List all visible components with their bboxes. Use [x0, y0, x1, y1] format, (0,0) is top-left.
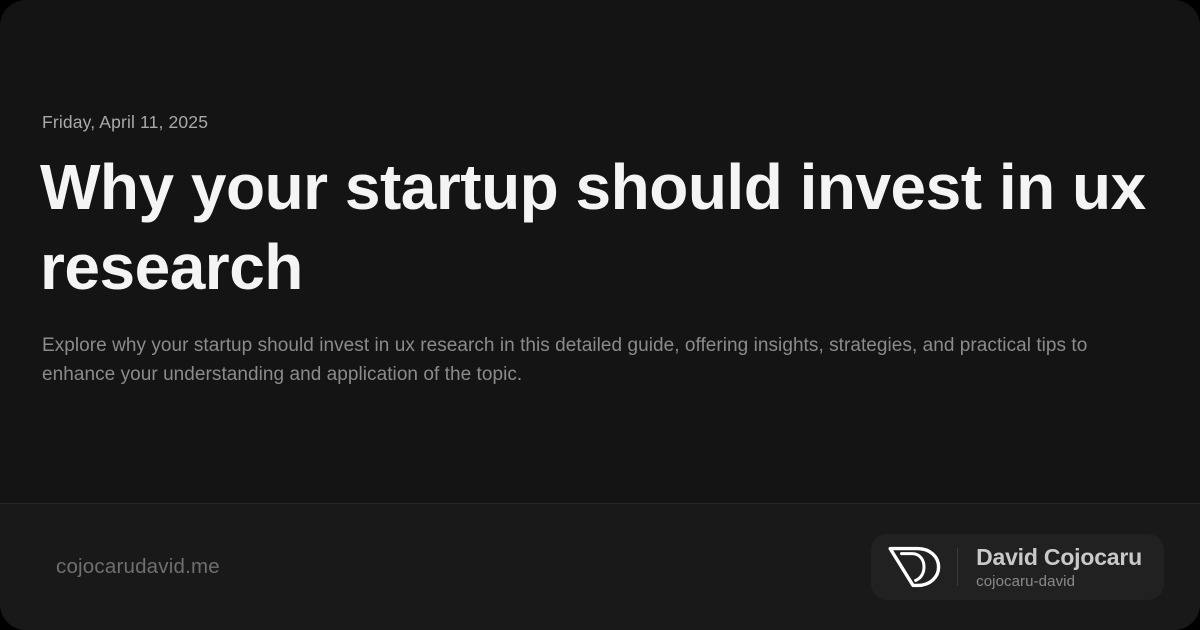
card-footer: cojocarudavid.me David Cojocaru cojocaru…	[0, 503, 1200, 630]
site-url[interactable]: cojocarudavid.me	[56, 557, 220, 578]
article-description: Explore why your startup should invest i…	[42, 331, 1147, 389]
publish-date: Friday, April 11, 2025	[42, 114, 1160, 132]
author-name: David Cojocaru	[976, 544, 1142, 570]
og-preview-card: Friday, April 11, 2025 Why your startup …	[0, 0, 1200, 630]
page-title: Why your startup should invest in ux res…	[40, 147, 1160, 307]
david-cojocaru-monogram-icon	[887, 545, 943, 589]
article-content: Friday, April 11, 2025 Why your startup …	[0, 0, 1200, 503]
author-info: David Cojocaru cojocaru-david	[976, 544, 1142, 590]
author-badge[interactable]: David Cojocaru cojocaru-david	[871, 534, 1164, 600]
author-card-divider	[957, 548, 958, 586]
author-handle: cojocaru-david	[976, 573, 1142, 590]
